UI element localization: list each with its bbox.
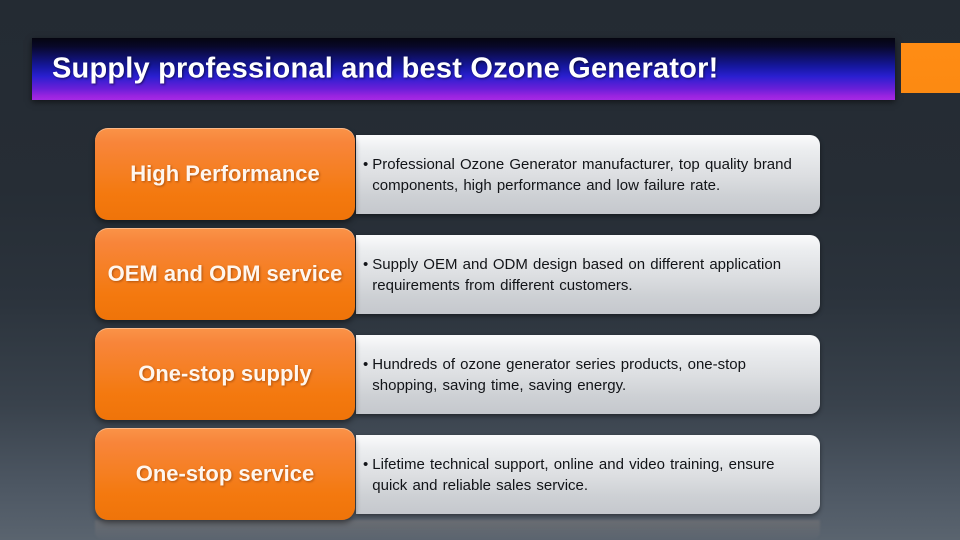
feature-description-panel: • Hundreds of ozone generator series pro… [356, 335, 820, 414]
reflection-sliver [95, 520, 820, 540]
feature-row: One-stop supply • Hundreds of ozone gene… [0, 328, 960, 420]
feature-description-text: Professional Ozone Generator manufacture… [372, 154, 806, 196]
feature-description-panel: • Lifetime technical support, online and… [356, 435, 820, 514]
bullet-icon: • [363, 354, 368, 375]
slide-canvas: Supply professional and best Ozone Gener… [0, 0, 960, 540]
feature-description-text: Hundreds of ozone generator series produ… [372, 354, 806, 396]
bullet-icon: • [363, 254, 368, 275]
feature-row: High Performance • Professional Ozone Ge… [0, 128, 960, 220]
feature-label-text: High Performance [120, 161, 330, 187]
feature-description-panel: • Supply OEM and ODM design based on dif… [356, 235, 820, 314]
page-title: Supply professional and best Ozone Gener… [52, 53, 718, 86]
feature-description-text: Supply OEM and ODM design based on diffe… [372, 254, 806, 296]
feature-description-text: Lifetime technical support, online and v… [372, 454, 806, 496]
feature-label-box[interactable]: One-stop service [95, 428, 355, 520]
feature-label-text: OEM and ODM service [98, 261, 353, 287]
bullet-icon: • [363, 154, 368, 175]
feature-label-box[interactable]: One-stop supply [95, 328, 355, 420]
bullet-icon: • [363, 454, 368, 475]
feature-label-box[interactable]: High Performance [95, 128, 355, 220]
feature-row: OEM and ODM service • Supply OEM and ODM… [0, 228, 960, 320]
accent-block-orange [901, 43, 960, 93]
feature-row: One-stop service • Lifetime technical su… [0, 428, 960, 520]
title-banner: Supply professional and best Ozone Gener… [32, 38, 895, 100]
feature-label-text: One-stop service [126, 461, 325, 487]
feature-description-panel: • Professional Ozone Generator manufactu… [356, 135, 820, 214]
feature-label-text: One-stop supply [128, 361, 322, 387]
feature-label-box[interactable]: OEM and ODM service [95, 228, 355, 320]
